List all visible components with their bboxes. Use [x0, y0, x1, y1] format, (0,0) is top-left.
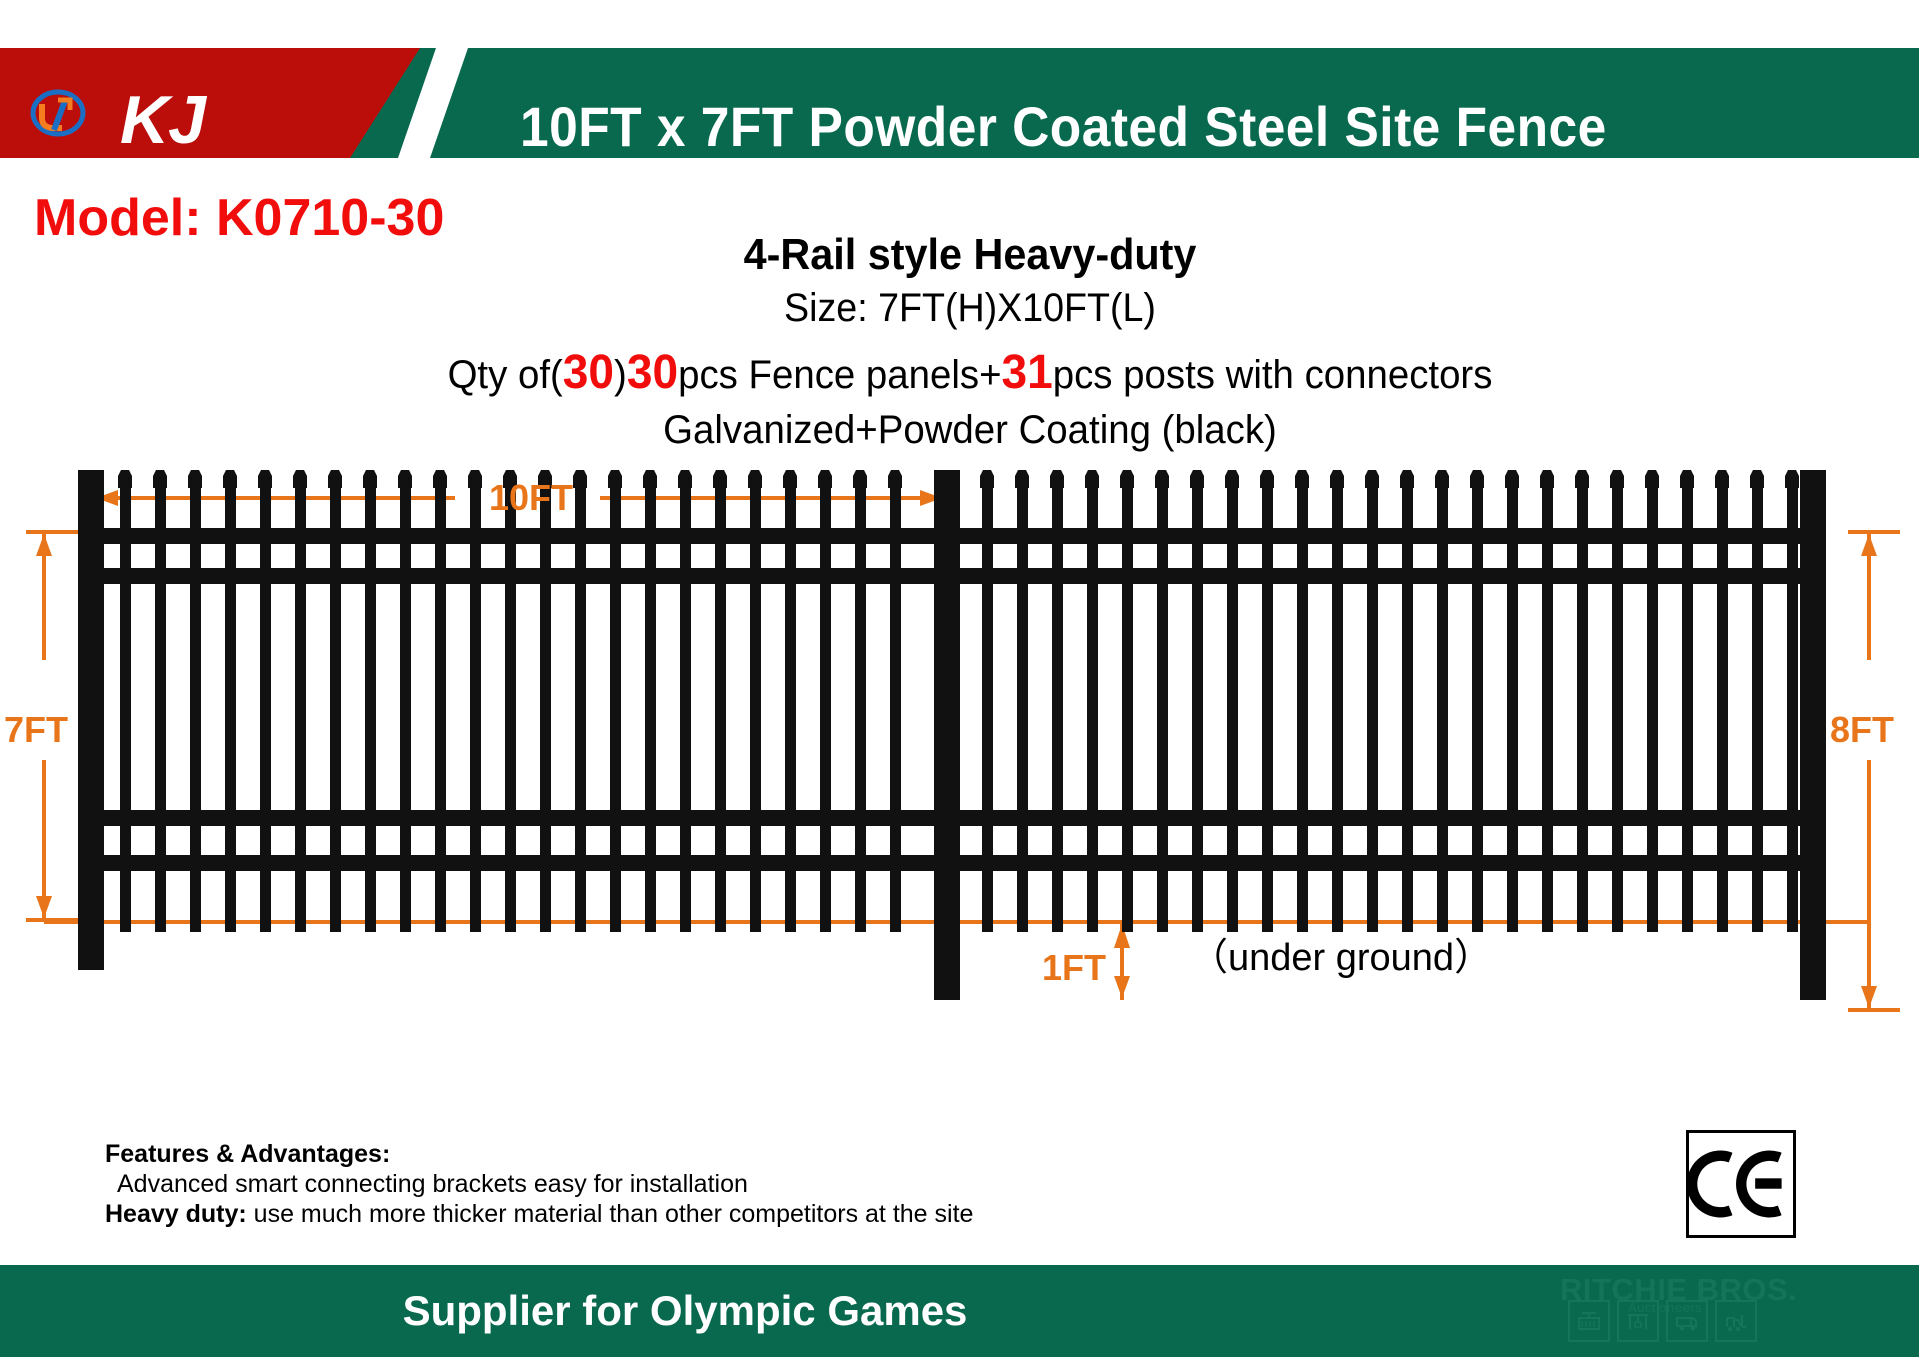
- dim-arrow-up-8ft: [1861, 534, 1877, 556]
- label-1ft: 1FT: [1042, 947, 1106, 988]
- features-block: Features & Advantages: Advanced smart co…: [105, 1140, 1055, 1229]
- footer-text: Supplier for Olympic Games: [0, 1287, 1370, 1335]
- ce-mark-box: [1686, 1130, 1796, 1238]
- ce-mark-icon: [1689, 1133, 1793, 1235]
- dim-arrow-down-8ft: [1861, 986, 1877, 1008]
- kj-oval-logo-icon: [28, 88, 88, 138]
- qty-mid-text: pcs Fence panels+: [678, 353, 1001, 397]
- rail-bottom-panel-2: [953, 855, 1813, 871]
- post-middle: [934, 470, 960, 1000]
- features-line-2: Heavy duty: use much more thicker materi…: [105, 1200, 1055, 1229]
- qty-paren-value: 30: [563, 346, 614, 399]
- spec-style-line: 4-Rail style Heavy-duty: [340, 230, 1600, 280]
- spec-coating-line: Galvanized+Powder Coating (black): [327, 408, 1613, 453]
- qty-prefix: Qty of(: [448, 353, 563, 397]
- label-7ft: 7FT: [4, 709, 68, 750]
- brand-name: KJ: [120, 86, 205, 154]
- page-title: 10FT x 7FT Powder Coated Steel Site Fenc…: [520, 94, 1607, 159]
- header-banner: KJ 10FT x 7FT Powder Coated Steel Site F…: [0, 48, 1919, 158]
- dim-arrow-down-7ft: [36, 896, 52, 918]
- specification-block: 4-Rail style Heavy-duty Size: 7FT(H)X10F…: [300, 230, 1640, 453]
- qty-suffix-text: pcs posts with connectors: [1053, 353, 1493, 397]
- forklift-icon: [1715, 1300, 1757, 1342]
- dim-arrow-up-7ft: [36, 534, 52, 556]
- features-line-2-rest: use much more thicker material than othe…: [247, 1200, 974, 1228]
- spec-size-line: Size: 7FT(H)X10FT(L): [340, 286, 1600, 331]
- qty-close: ): [614, 353, 627, 397]
- label-under-ground: （under ground）: [1190, 937, 1492, 979]
- rail-lower-panel-2: [953, 810, 1813, 826]
- spec-quantity-line: Qty of(30)30pcs Fence panels+31pcs posts…: [327, 345, 1613, 400]
- container-icon: [1568, 1300, 1610, 1342]
- fence-technical-drawing: 10FT 7FT 8FT 1FT （under ground）: [0, 470, 1919, 1210]
- features-line-1: Advanced smart connecting brackets easy …: [105, 1170, 1055, 1199]
- crane-icon: [1617, 1300, 1659, 1342]
- product-spec-sheet: KJ 10FT x 7FT Powder Coated Steel Site F…: [0, 0, 1919, 1357]
- fence-drawing-svg: 10FT 7FT 8FT 1FT （under ground）: [0, 470, 1919, 1210]
- watermark-icon-row: [1568, 1300, 1757, 1342]
- post-right: [1800, 470, 1826, 1000]
- rail-top-panel-2: [953, 528, 1813, 544]
- rail-top-panel-1: [82, 528, 942, 544]
- features-line-2-bold: Heavy duty:: [105, 1200, 247, 1228]
- rail-lower-panel-1: [82, 810, 942, 826]
- dim-arrow-down-1ft: [1114, 976, 1130, 998]
- rail-upper-panel-1: [82, 568, 942, 584]
- qty-panels-value: 30: [627, 346, 678, 399]
- rail-bottom-panel-1: [82, 855, 942, 871]
- features-title: Features & Advantages:: [105, 1140, 1055, 1169]
- rail-upper-panel-2: [953, 568, 1813, 584]
- dim-height-8ft: [1848, 532, 1900, 1010]
- qty-posts-value: 31: [1002, 346, 1053, 399]
- truck-icon: [1666, 1300, 1708, 1342]
- label-10ft: 10FT: [489, 477, 573, 518]
- post-left: [78, 470, 104, 970]
- label-8ft: 8FT: [1830, 709, 1894, 750]
